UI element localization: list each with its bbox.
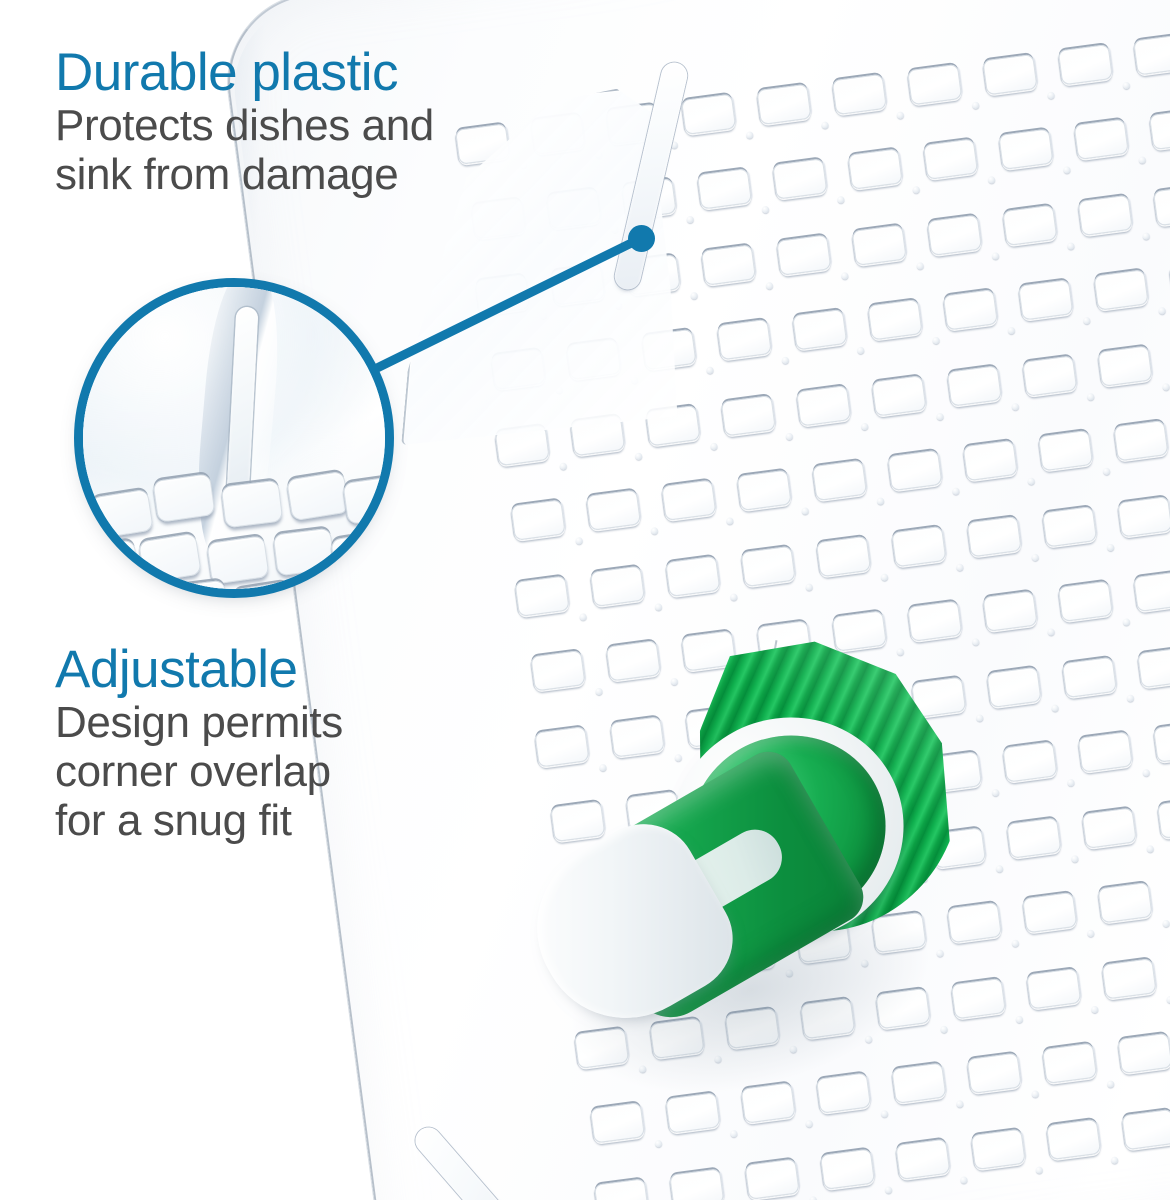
mat-dimple xyxy=(1087,929,1095,937)
mat-dimple xyxy=(972,101,980,109)
drain-slot xyxy=(867,299,922,340)
drain-slot xyxy=(832,74,887,115)
magnified-detail-circle xyxy=(74,278,394,598)
mat-dimple xyxy=(730,593,738,601)
mat-dimple xyxy=(1166,996,1170,1004)
drain-slot xyxy=(661,479,716,520)
mat-dimple xyxy=(655,1140,663,1148)
mat-dimple xyxy=(881,573,889,581)
mat-dimple xyxy=(1035,1166,1043,1174)
drain-slot xyxy=(1026,968,1081,1009)
drain-slot xyxy=(967,516,1022,557)
feature-durable-plastic: Durable plastic Protects dishes and sink… xyxy=(55,44,434,199)
feature-body-line: Design permits xyxy=(55,698,343,747)
mat-dimple xyxy=(837,196,845,204)
mat-dimple xyxy=(575,537,583,545)
drain-slot xyxy=(1082,807,1137,848)
mat-dimple xyxy=(992,252,1000,260)
mat-dimple xyxy=(726,517,734,525)
mat-dimple xyxy=(1051,704,1059,712)
drain-slot xyxy=(820,1148,875,1189)
mat-dimple xyxy=(706,366,714,374)
drain-slot xyxy=(590,566,645,607)
mat-dimple xyxy=(559,462,567,470)
mat-dimple xyxy=(805,1120,813,1128)
mat-dimple xyxy=(976,714,984,722)
mat-dimple xyxy=(988,176,996,184)
drain-slot xyxy=(1153,185,1170,226)
drain-slot xyxy=(1094,269,1149,310)
drain-slot xyxy=(963,440,1018,481)
magnified-drain-slot xyxy=(273,528,336,577)
mat-dimple xyxy=(1103,467,1111,475)
drain-slot xyxy=(1038,430,1093,471)
mat-dimple xyxy=(1031,553,1039,561)
mat-dimple xyxy=(746,131,754,139)
drain-slot xyxy=(792,309,847,350)
drain-slot xyxy=(1113,420,1168,461)
drain-slot xyxy=(1074,119,1129,160)
drain-slot xyxy=(852,224,907,265)
mat-dimple xyxy=(972,638,980,646)
mat-dimple xyxy=(1011,403,1019,411)
drain-slot xyxy=(511,499,566,540)
mat-dimple xyxy=(805,583,813,591)
drain-slot xyxy=(796,385,851,426)
mat-dimple xyxy=(1015,1016,1023,1024)
drain-slot xyxy=(1101,958,1156,999)
drain-slot xyxy=(871,375,926,416)
feature-body-line: Protects dishes and xyxy=(55,101,434,150)
drain-slot xyxy=(1042,1043,1097,1084)
mat-dimple xyxy=(766,282,774,290)
dish-brush xyxy=(520,640,960,1080)
drain-slot xyxy=(1149,109,1170,150)
callout-target-dot xyxy=(628,225,655,252)
drain-slot xyxy=(1018,279,1073,320)
feature-adjustable: Adjustable Design permits corner overlap… xyxy=(55,641,343,845)
drain-slot xyxy=(971,1129,1026,1170)
mat-dimple xyxy=(956,563,964,571)
drain-slot xyxy=(772,158,827,199)
magnified-drain-slot xyxy=(77,540,140,589)
drain-slot xyxy=(887,450,942,491)
mat-dimple xyxy=(579,613,587,621)
magnified-drain-slot xyxy=(152,473,215,523)
mat-dimple xyxy=(936,413,944,421)
mat-dimple xyxy=(952,487,960,495)
drain-slot xyxy=(1117,496,1170,537)
magnified-drain-slots xyxy=(83,287,394,598)
mat-dimple xyxy=(1142,232,1150,240)
mat-dimple xyxy=(916,262,924,270)
mat-dimple xyxy=(710,442,718,450)
mat-dimple xyxy=(730,1130,738,1138)
mat-dimple xyxy=(861,423,869,431)
drain-slot xyxy=(665,556,720,597)
drain-slot xyxy=(1133,571,1170,612)
mat-dimple xyxy=(1087,393,1095,401)
drain-slot xyxy=(1002,741,1057,782)
mat-dimple xyxy=(686,216,694,224)
mat-dimple xyxy=(877,497,885,505)
mat-dimple xyxy=(992,789,1000,797)
drain-slot xyxy=(737,470,792,511)
drain-slot xyxy=(907,64,962,105)
drain-slot xyxy=(1058,581,1113,622)
drain-slot xyxy=(594,1178,649,1200)
mat-dimple xyxy=(785,433,793,441)
mat-dimple xyxy=(1123,82,1131,90)
mat-dimple xyxy=(960,1176,968,1184)
drain-slot xyxy=(1006,817,1061,858)
drain-slot xyxy=(745,1158,800,1199)
mat-dimple xyxy=(881,1110,889,1118)
drain-slot xyxy=(1133,34,1170,75)
drain-slot xyxy=(1098,882,1153,923)
mat-dimple xyxy=(1047,91,1055,99)
mat-dimple xyxy=(635,452,643,460)
mat-dimple xyxy=(762,206,770,214)
magnified-drain-slot xyxy=(221,480,284,529)
drain-slot xyxy=(927,215,982,256)
mat-dimple xyxy=(1067,779,1075,787)
mat-dimple xyxy=(1142,769,1150,777)
drain-slot xyxy=(1078,731,1133,772)
drain-slot xyxy=(1022,892,1077,933)
drain-slot xyxy=(907,600,962,641)
mat-dimple xyxy=(1127,694,1135,702)
mat-dimple xyxy=(841,272,849,280)
drain-slot xyxy=(1153,721,1170,762)
drain-slot xyxy=(967,1053,1022,1094)
drain-slot xyxy=(812,460,867,501)
mat-dimple xyxy=(1091,1006,1099,1014)
magnified-drain-slot xyxy=(206,535,269,585)
mat-dimple xyxy=(1047,628,1055,636)
mat-dimple xyxy=(1123,618,1131,626)
drain-slot xyxy=(1121,1109,1170,1150)
drain-slot xyxy=(895,1139,950,1180)
drain-slot xyxy=(1078,195,1133,236)
drain-slot xyxy=(741,546,796,587)
mat-dimple xyxy=(651,527,659,535)
feature-body-line: sink from damage xyxy=(55,150,434,199)
mat-dimple xyxy=(1083,317,1091,325)
drain-slot xyxy=(515,575,570,616)
mat-dimple xyxy=(809,1196,817,1200)
drain-slot xyxy=(776,234,831,275)
drain-slot xyxy=(1002,205,1057,246)
mat-dimple xyxy=(996,865,1004,873)
drain-slot xyxy=(1137,647,1170,688)
drain-slot xyxy=(681,94,736,135)
magnified-drain-slot xyxy=(90,489,154,540)
drain-slot xyxy=(586,489,641,530)
drain-slot xyxy=(891,526,946,567)
mat-dimple xyxy=(801,507,809,515)
mat-dimple xyxy=(885,1186,893,1194)
feature-title: Durable plastic xyxy=(55,44,434,101)
drain-slot xyxy=(998,128,1053,169)
magnified-drain-slot xyxy=(138,533,202,584)
feature-body-line: for a snug fit xyxy=(55,796,343,845)
mat-dimple xyxy=(1111,1156,1119,1164)
mat-dimple xyxy=(1162,383,1170,391)
drain-slot xyxy=(721,395,776,436)
mat-dimple xyxy=(1107,1080,1115,1088)
drain-slot xyxy=(1058,44,1113,85)
mat-dimple xyxy=(1012,939,1020,947)
mat-dimple xyxy=(956,1100,964,1108)
magnified-drain-slot xyxy=(330,531,394,582)
drain-slot xyxy=(943,289,998,330)
drain-slot xyxy=(701,244,756,285)
mat-dimple xyxy=(1071,855,1079,863)
mat-dimple xyxy=(1162,920,1170,928)
mat-dimple xyxy=(1063,166,1071,174)
feature-body-line: corner overlap xyxy=(55,747,343,796)
drain-slot xyxy=(1046,1119,1101,1160)
drain-slot xyxy=(669,1168,724,1200)
mat-dimple xyxy=(655,603,663,611)
mat-dimple xyxy=(821,121,829,129)
drain-slot xyxy=(986,667,1041,708)
mat-dimple xyxy=(1138,156,1146,164)
drain-slot xyxy=(982,590,1037,631)
mat-dimple xyxy=(1008,327,1016,335)
drain-slot xyxy=(756,84,811,125)
mat-dimple xyxy=(1031,1090,1039,1098)
drain-slot xyxy=(947,365,1002,406)
mat-dimple xyxy=(1107,544,1115,552)
mat-dimple xyxy=(781,356,789,364)
magnified-drain-slot xyxy=(286,471,350,522)
drain-slot xyxy=(816,536,871,577)
drain-slot xyxy=(1042,506,1097,547)
mat-dimple xyxy=(690,292,698,300)
drain-slot xyxy=(1062,657,1117,698)
drain-slot xyxy=(923,138,978,179)
feature-title: Adjustable xyxy=(55,641,343,698)
drain-slot xyxy=(1022,355,1077,396)
drain-slot xyxy=(1157,797,1170,838)
mat-dimple xyxy=(896,111,904,119)
infographic-canvas: Durable plastic Protects dishes and sink… xyxy=(0,0,1170,1200)
mat-dimple xyxy=(1146,845,1154,853)
drain-slot xyxy=(848,148,903,189)
mat-dimple xyxy=(1158,307,1166,315)
mat-dimple xyxy=(912,186,920,194)
mat-dimple xyxy=(857,346,865,354)
mat-dimple xyxy=(1067,242,1075,250)
mat-dimple xyxy=(1027,477,1035,485)
drain-slot xyxy=(1097,345,1152,386)
drain-slot xyxy=(697,168,752,209)
mat-dimple xyxy=(932,337,940,345)
drain-slot xyxy=(982,54,1037,95)
drain-slot xyxy=(1117,1033,1170,1074)
drain-slot xyxy=(717,319,772,360)
